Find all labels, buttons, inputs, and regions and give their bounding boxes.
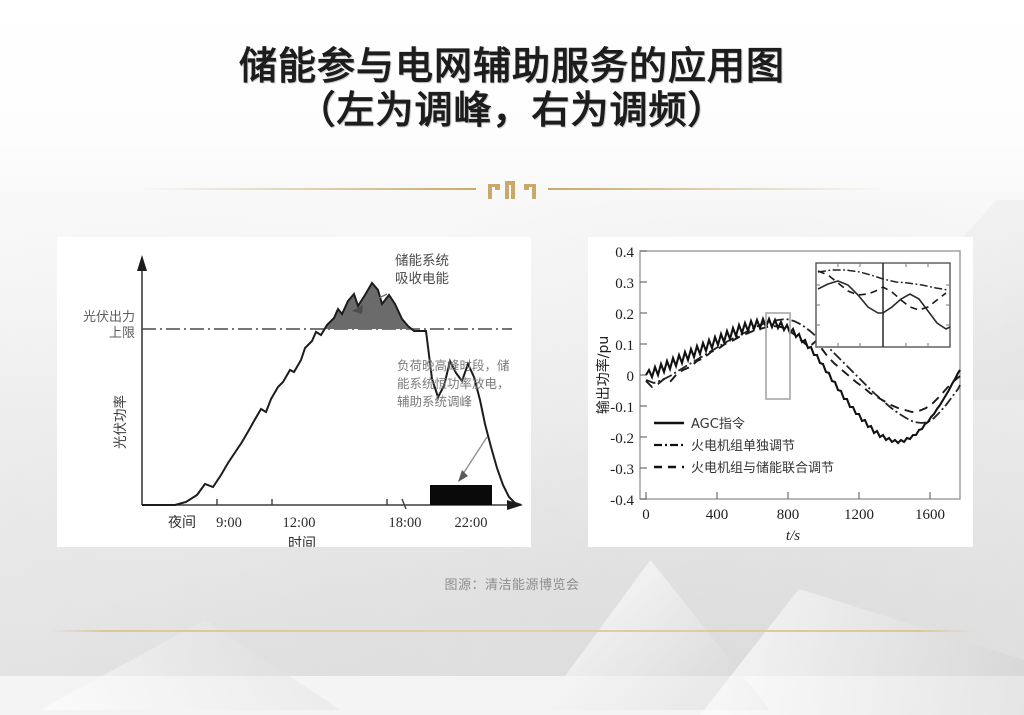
discharge-annotation-line3: 辅助系统调峰 <box>397 394 473 409</box>
pv-xtick-1: 9:00 <box>216 515 242 531</box>
pv-xtick-2: 12:00 <box>282 515 315 531</box>
charts-row: 光伏出力 上限 光伏功率 储能系统 吸收电能 负荷晚高峰时段，储 能系统恒功率放… <box>0 237 1024 547</box>
pv-xtick-0: 夜间 <box>168 515 196 531</box>
discharge-annotation-line2: 能系统恒功率放电， <box>397 376 510 391</box>
charge-annotation-line1: 储能系统 <box>395 253 449 269</box>
pv-y-axis-label: 光伏功率 <box>112 395 129 449</box>
fr-ytick-3: 0.1 <box>615 338 634 354</box>
storage-discharge-block <box>430 485 492 505</box>
fr-ytick-5: -0.1 <box>610 400 634 416</box>
fr-ytick-4: 0 <box>627 369 635 385</box>
bg-facet-2 <box>700 575 1024 715</box>
pv-limit-label-line1: 光伏出力 <box>83 310 135 325</box>
divider-line-right <box>548 188 885 190</box>
fr-ytick-8: -0.4 <box>610 493 634 509</box>
source-caption: 图源：清洁能源博览会 <box>0 574 1024 593</box>
zoom-inset <box>816 263 950 347</box>
fr-xtick-3: 1200 <box>844 507 874 523</box>
page-title-line-2: （左为调峰，右为调频） <box>0 88 1024 132</box>
pv-xtick-3: 18:00 <box>388 515 421 531</box>
charge-annotation-line2: 吸收电能 <box>395 271 449 287</box>
page-title: 储能参与电网辅助服务的应用图 （左为调峰，右为调频） <box>0 44 1024 132</box>
fr-xtick-1: 400 <box>706 507 729 523</box>
fr-x-axis-label: t/s <box>786 528 800 544</box>
fr-xtick-0: 0 <box>642 507 650 523</box>
fr-y-axis-label: 输出功率/pu <box>595 336 612 414</box>
fr-ytick-6: -0.2 <box>610 431 634 447</box>
fr-ytick-7: -0.3 <box>610 462 634 478</box>
legend-label-1: 火电机组单独调节 <box>691 439 795 454</box>
pv-x-axis-label: 时间 <box>288 536 316 547</box>
fr-xtick-2: 800 <box>777 507 800 523</box>
legend-label-0: AGC指令 <box>691 417 745 432</box>
chart-peak-shaving: 光伏出力 上限 光伏功率 储能系统 吸收电能 负荷晚高峰时段，储 能系统恒功率放… <box>57 237 531 547</box>
discharge-annotation-line1: 负荷晚高峰时段，储 <box>397 358 510 373</box>
bg-facet-3 <box>40 600 340 710</box>
pv-xtick-4: 22:00 <box>454 515 487 531</box>
legend-label-2: 火电机组与储能联合调节 <box>691 461 834 476</box>
page-title-line-1: 储能参与电网辅助服务的应用图 <box>0 44 1024 88</box>
divider-line-left <box>139 188 476 190</box>
pv-limit-label-line2: 上限 <box>109 326 135 341</box>
fr-ytick-2: 0.2 <box>615 307 634 323</box>
fr-ytick-0: 0.4 <box>615 245 634 261</box>
fr-xtick-4: 1600 <box>915 507 945 523</box>
chart-frequency-regulation: AGC指令 火电机组单独调节 火电机组与储能联合调节 0.4 0.3 0.2 0… <box>588 237 973 547</box>
bottom-gold-rule <box>50 630 975 632</box>
gold-knot-ornament-icon <box>484 177 540 201</box>
section-divider <box>0 176 1024 202</box>
fr-ytick-1: 0.3 <box>615 276 634 292</box>
